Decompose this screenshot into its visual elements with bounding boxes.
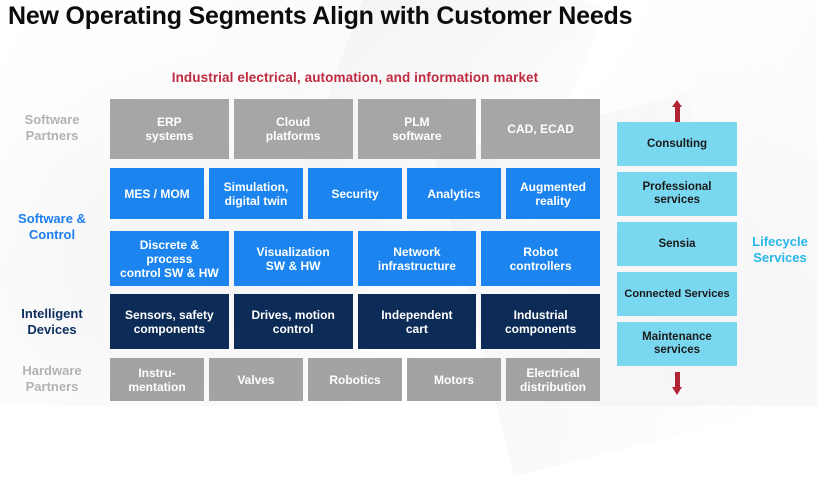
arrow-down-shaft (675, 372, 680, 388)
matrix-cell[interactable]: Independent cart (358, 294, 477, 349)
matrix-cell[interactable]: Valves (209, 358, 303, 401)
matrix-cell[interactable]: CAD, ECAD (481, 99, 600, 159)
arrow-up-icon (672, 100, 682, 122)
slide-canvas: New Operating Segments Align with Custom… (0, 0, 817, 406)
lifecycle-service-item[interactable]: Consulting (617, 122, 737, 166)
arrow-up-shaft (675, 106, 680, 122)
matrix-cell[interactable]: Network infrastructure (358, 231, 477, 286)
matrix-cell[interactable]: Electrical distribution (506, 358, 600, 401)
lifecycle-service-item[interactable]: Connected Services (617, 272, 737, 316)
matrix-cell[interactable]: Instru- mentation (110, 358, 204, 401)
lifecycle-service-item[interactable]: Maintenance services (617, 322, 737, 366)
lifecycle-services-column: Consulting Professional services Sensia … (617, 122, 737, 366)
arrow-down-head (672, 387, 682, 395)
row-label-hardware-partners: Hardware Partners (0, 363, 104, 395)
lifecycle-service-item[interactable]: Professional services (617, 172, 737, 216)
matrix-cell[interactable]: PLM software (358, 99, 477, 159)
matrix-row-software-partners: ERP systems Cloud platforms PLM software… (110, 99, 600, 159)
matrix-cell[interactable]: Industrial components (481, 294, 600, 349)
matrix-row-hardware-partners: Instru- mentation Valves Robotics Motors… (110, 358, 600, 401)
matrix-cell[interactable]: Drives, motion control (234, 294, 353, 349)
matrix-cell[interactable]: Simulation, digital twin (209, 168, 303, 219)
matrix-row-software-control-lower: Discrete & process control SW & HW Visua… (110, 231, 600, 286)
matrix-cell[interactable]: MES / MOM (110, 168, 204, 219)
matrix-cell[interactable]: Robot controllers (481, 231, 600, 286)
matrix-cell[interactable]: Motors (407, 358, 501, 401)
lifecycle-services-label: Lifecycle Services (745, 234, 815, 266)
matrix-cell[interactable]: Visualization SW & HW (234, 231, 353, 286)
row-label-software-and-control: Software & Control (0, 211, 104, 243)
matrix-cell[interactable]: Robotics (308, 358, 402, 401)
matrix-cell[interactable]: Security (308, 168, 402, 219)
lifecycle-service-item[interactable]: Sensia (617, 222, 737, 266)
matrix-cell[interactable]: Analytics (407, 168, 501, 219)
matrix-cell[interactable]: Sensors, safety components (110, 294, 229, 349)
matrix-row-intelligent-devices: Sensors, safety components Drives, motio… (110, 294, 600, 349)
matrix-cell[interactable]: Discrete & process control SW & HW (110, 231, 229, 286)
matrix-cell[interactable]: Cloud platforms (234, 99, 353, 159)
matrix-cell[interactable]: ERP systems (110, 99, 229, 159)
row-label-intelligent-devices: Intelligent Devices (0, 306, 104, 338)
page-title: New Operating Segments Align with Custom… (8, 2, 632, 31)
arrow-down-icon (672, 372, 682, 396)
matrix-cell[interactable]: Augmented reality (506, 168, 600, 219)
market-header-label: Industrial electrical, automation, and i… (110, 70, 600, 85)
row-label-software-partners: Software Partners (0, 112, 104, 144)
matrix-row-software-control-upper: MES / MOM Simulation, digital twin Secur… (110, 168, 600, 219)
